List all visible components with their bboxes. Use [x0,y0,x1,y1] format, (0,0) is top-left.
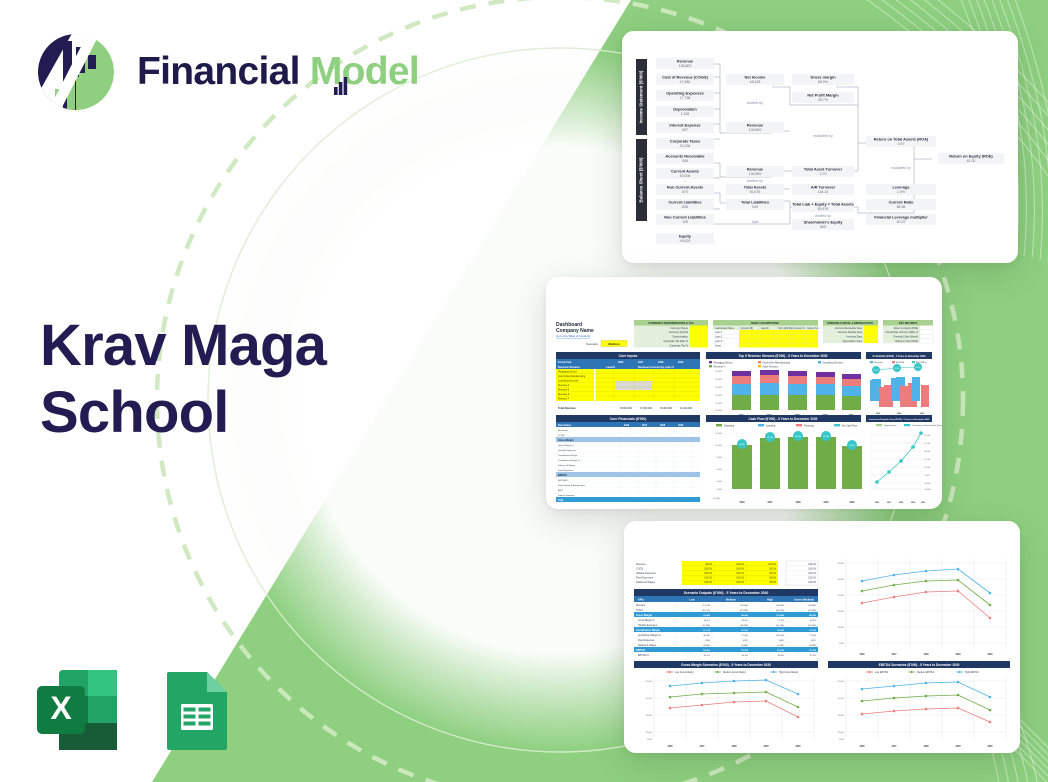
svg-text:(10,130): (10,130) [776,625,784,627]
svg-text:Asset: Asset [715,344,721,347]
svg-text:(47,880): (47,880) [740,610,748,612]
svg-text:Salaries & Wages: Salaries & Wages [638,644,657,647]
svg-text:2026: 2026 [618,361,624,364]
svg-text:4,000: 4,000 [717,481,723,483]
svg-text:KPIs: KPIs [638,597,644,601]
svg-text:25,000: 25,000 [838,595,845,597]
svg-text:Food & Bev Manufacturing: Food & Bev Manufacturing [558,375,586,378]
svg-text:Revenues: Revenues [558,430,569,432]
svg-text:Profitability ($'000) - 5 Year: Profitability ($'000) - 5 Years to Decem… [873,355,927,358]
svg-text:(2,000): (2,000) [713,498,720,500]
svg-text:57,710: 57,710 [703,630,710,632]
svg-text:Consulting Services: Consulting Services [558,380,579,383]
svg-text:57,000: 57,000 [924,443,931,445]
svg-text:Go to the Table of Contents: Go to the Table of Contents [556,334,591,338]
svg-text:Non Current Liabilities: Non Current Liabilities [664,214,706,219]
microsoft-excel-icon[interactable]: X X [33,666,121,754]
svg-text:Add: Add [751,220,759,224]
svg-text:Consulting Services: Consulting Services [823,361,844,364]
svg-text:Fixed Expenses: Fixed Expenses [558,470,574,472]
svg-text:Contribution Margin %: Contribution Margin % [558,459,580,462]
svg-text:Cash Flow ($'000) - 5 Years to: Cash Flow ($'000) - 5 Years to December … [749,417,818,421]
svg-text:65.0%: 65.0% [742,620,748,622]
svg-text:72,000: 72,000 [924,435,931,437]
svg-text:Leverage: Leverage [892,184,910,189]
svg-text:Revenue: Revenue [747,166,764,171]
svg-text:10,000: 10,000 [646,732,653,734]
svg-text:Total Revenue: Total Revenue [558,406,576,410]
svg-text:Description: Description [558,424,572,427]
svg-text:2030: 2030 [987,746,993,748]
svg-text:Scenario Outputs ($'000) - 5 Y: Scenario Outputs ($'000) - 5 Years to De… [684,591,769,595]
svg-text:+: + [684,180,686,184]
svg-text:multiplied by: multiplied by [813,134,833,138]
svg-text:divided by: divided by [747,101,763,105]
svg-text:Corporate Tax %: Corporate Tax % [669,344,688,347]
svg-text:KEY METRICS: KEY METRICS [899,321,918,325]
svg-text:20,000: 20,000 [838,698,845,700]
svg-text:Medium Gross Margin: Medium Gross Margin [723,671,746,674]
svg-text:76,700: 76,700 [741,630,748,632]
slide-canvas: Financial Model Krav Maga School X X [0,0,1048,782]
svg-text:77,190: 77,190 [741,635,748,637]
svg-text:Equity: Equity [679,233,692,238]
svg-text:97,630: 97,630 [777,650,784,652]
svg-text:39,400,000: 39,400,000 [660,407,673,410]
svg-text:(3,880): (3,880) [809,645,816,647]
svg-text:100.0%: 100.0% [808,582,816,584]
svg-text:2026: 2026 [624,425,630,427]
svg-text:High Gross Margin: High Gross Margin [779,671,799,674]
svg-text:25,000: 25,000 [646,681,653,683]
svg-text:Contribution Margin %: Contribution Margin % [638,634,661,637]
svg-text:Total: Total [558,499,564,502]
svg-text:144.24: 144.24 [818,190,829,194]
svg-text:2.70: 2.70 [820,172,827,176]
page-title-line1: Krav Maga [40,312,326,379]
svg-text:Interest Expense: Interest Expense [669,122,701,127]
svg-text:42,000: 42,000 [924,451,931,453]
svg-text:40.1%: 40.1% [704,655,710,657]
svg-text:Variable Expenses: Variable Expenses [636,572,657,575]
svg-text:Internal Rate of Return (IRR),: Internal Rate of Return (IRR), % [885,331,918,334]
svg-text:-18,000: -18,000 [924,483,932,485]
svg-text:Core Financials ($'000): Core Financials ($'000) [610,417,647,421]
file-format-icons: X X Sheets [33,666,241,754]
svg-text:40,100,000: 40,100,000 [680,407,693,410]
svg-text:88,920: 88,920 [741,615,748,617]
svg-text:(11,190): (11,190) [702,625,710,627]
svg-text:Food & Bev Manufacturing: Food & Bev Manufacturing [763,361,791,364]
svg-text:Operating Expenses: Operating Expenses [666,90,704,95]
svg-text:100.0%: 100.0% [808,569,816,571]
svg-text:Variable Expenses: Variable Expenses [638,624,658,627]
bar-chart-glyph-icon [334,63,349,83]
svg-text:2028: 2028 [795,502,801,504]
svg-text:Packaging Service: Packaging Service [714,361,734,364]
svg-text:5,000: 5,000 [647,739,653,741]
svg-text:CURRENCY DENOMINATION & TAX: CURRENCY DENOMINATION & TAX [648,321,694,325]
svg-text:45.6%: 45.6% [915,367,920,369]
svg-text:0.97: 0.97 [898,142,905,146]
svg-text:COGS: COGS [558,435,565,437]
svg-text:Amount ($): Amount ($) [741,327,753,330]
svg-text:121,130: 121,130 [702,605,711,607]
svg-text:2029: 2029 [678,361,684,364]
svg-text:2029: 2029 [955,654,961,656]
svg-text:Accounts Receivable Days: Accounts Receivable Days [835,327,863,330]
svg-text:Medium EBITDA: Medium EBITDA [917,671,935,674]
svg-text:20,000: 20,000 [838,611,845,613]
svg-text:43.8%: 43.8% [778,655,784,657]
svg-text:2026: 2026 [667,746,673,748]
svg-text:Revenue 7: Revenue 7 [558,399,570,401]
svg-text:2,000: 2,000 [717,489,723,491]
svg-text:Financing: Financing [804,425,815,427]
svg-text:105.0%: 105.0% [704,578,712,580]
svg-text:(50,270): (50,270) [702,610,710,612]
svg-text:15,000: 15,000 [646,715,653,717]
svg-text:136,800: 136,800 [679,64,692,68]
svg-text:Current Liabilities: Current Liabilities [668,199,701,204]
screenshot-card-dupont-diagram[interactable]: Income Statement ($'000) Balance Sheet (… [622,31,1018,263]
svg-text:50,006: 50,006 [680,174,691,178]
svg-text:2028: 2028 [658,361,664,364]
svg-text:Accounts Payable Days: Accounts Payable Days [838,331,863,334]
svg-text:50,576: 50,576 [818,207,829,211]
svg-text:136,800: 136,800 [749,172,762,176]
svg-text:60.22: 60.22 [897,220,906,224]
svg-text:71.3%: 71.3% [778,620,784,622]
svg-text:Corporate Taxes: Corporate Taxes [670,138,700,143]
scenario-analysis-sheet: Revenue COGS Variable Expenses Fixed Exp… [624,521,1020,753]
svg-text:58.98: 58.98 [897,205,906,209]
svg-text:Loan 1: Loan 1 [715,331,723,334]
svg-text:Total Assets: Total Assets [744,184,767,189]
svg-text:DEBT ASSUMPTIONS: DEBT ASSUMPTIONS [751,321,779,325]
svg-text:35,000: 35,000 [715,387,722,389]
svg-text:8,000: 8,000 [717,457,723,459]
svg-text:10,390: 10,390 [823,436,830,438]
svg-text:30,000: 30,000 [715,395,722,397]
excel-icon-label: X [121,666,122,667]
svg-text:120.0%: 120.0% [768,564,776,566]
svg-text:Grace Peri: Grace Peri [807,327,819,330]
svg-text:2030: 2030 [987,654,993,656]
dupont-financial-ratio-diagram: Income Statement ($'000) Balance Sheet (… [622,31,1018,263]
svg-text:Corporate Tax Rate %: Corporate Tax Rate % [663,340,688,343]
svg-text:Variable Expenses: Variable Expenses [558,449,577,452]
svg-text:42.6%: 42.6% [810,655,816,657]
svg-text:-33,000: -33,000 [924,489,932,491]
sheets-icon-label: Sheets [241,666,242,667]
svg-text:Revenue Forecast by years $: Revenue Forecast by years $ [638,365,674,369]
svg-text:58.5%: 58.5% [704,620,710,622]
svg-text:2029: 2029 [678,425,684,427]
svg-text:27,000: 27,000 [924,459,931,461]
svg-text:Depreciation: Depreciation [673,106,697,111]
svg-text:Revenue Streams: Revenue Streams [558,365,580,369]
svg-text:multiplied by: multiplied by [891,166,911,170]
svg-text:High: High [767,597,773,601]
svg-text:50,576: 50,576 [750,190,761,194]
svg-text:20,000: 20,000 [715,410,722,412]
svg-text:Current Ratio: Current Ratio [889,199,914,204]
svg-text:EBITDA %: EBITDA % [638,654,649,657]
svg-text:Revenue: Revenue [747,122,764,127]
svg-text:Salaries & Wages: Salaries & Wages [558,464,576,467]
svg-text:(3,185): (3,185) [777,645,784,647]
svg-text:Balance Sheet ($'000): Balance Sheet ($'000) [639,157,644,203]
svg-text:Threshold Cash (Month): Threshold Cash (Month) [893,336,918,339]
svg-text:10,298: 10,298 [767,437,774,439]
svg-text:2027: 2027 [767,502,773,504]
svg-text:948: 948 [682,159,688,163]
svg-text:Gross Margin Scenarios ($'000): Gross Margin Scenarios ($'000) - 5 Years… [681,663,771,667]
svg-text:80.0%: 80.0% [705,564,712,566]
svg-text:Net Income: Net Income [745,74,767,79]
svg-text:2028: 2028 [731,746,737,748]
financial-model-circle-logo [33,27,119,115]
svg-text:45,000: 45,000 [715,371,722,373]
brand-name-part2: Model [310,50,419,93]
svg-text:88,920: 88,920 [809,615,816,617]
svg-text:divided by: divided by [815,214,831,218]
svg-text:WORKING CAPITAL & DEPRECIATION: WORKING CAPITAL & DEPRECIATION [827,322,873,325]
svg-text:Fiscal Year: Fiscal Year [558,360,572,364]
svg-text:EBITDA %: EBITDA % [558,479,568,482]
brand-name: Financial Model [137,52,419,91]
svg-text:Launch: Launch [761,327,770,330]
svg-text:Revenue 4: Revenue 4 [558,385,570,387]
svg-text:570: 570 [682,190,688,194]
brand-name-part1: Financial [137,50,300,93]
svg-text:EBITDA: EBITDA [636,649,646,652]
svg-text:EBITDA: EBITDA [558,474,567,477]
svg-text:Loan 3: Loan 3 [715,340,723,343]
svg-text:Gross margin: Gross margin [810,74,836,79]
svg-text:848: 848 [682,205,688,209]
svg-text:2027: 2027 [699,746,705,748]
svg-text:EBIT: EBIT [558,490,564,492]
svg-text:(700): (700) [705,640,710,642]
svg-text:100.0%: 100.0% [736,578,744,580]
svg-text:EBITDA Scenarios ($'000) - 5 Y: EBITDA Scenarios ($'000) - 5 Years to De… [879,663,960,667]
svg-text:49,629: 49,629 [680,239,691,243]
svg-text:1.9%: 1.9% [897,190,905,194]
svg-text:Shareholder's Equity: Shareholder's Equity [804,219,844,224]
svg-text:Loan 2: Loan 2 [715,336,723,339]
svg-text:-: - [684,102,685,106]
svg-text:158,480: 158,480 [776,605,785,607]
svg-text:95.0%: 95.0% [769,582,776,584]
svg-text:(582): (582) [779,640,784,642]
svg-text:Gross Margin %: Gross Margin % [558,444,574,447]
svg-text:Currency Name: Currency Name [670,327,688,330]
svg-text:102,730: 102,730 [776,635,785,637]
svg-text:10,000: 10,000 [838,732,845,734]
svg-text:2028: 2028 [660,425,666,427]
svg-text:12,000: 12,000 [715,433,722,435]
svg-text:(47,880): (47,880) [808,610,816,612]
svg-text:95.0%: 95.0% [769,569,776,571]
svg-text:-: - [684,86,685,90]
svg-text:10,450: 10,450 [795,436,802,438]
svg-text:12,000: 12,000 [924,467,931,469]
svg-text:(4,840): (4,840) [703,645,710,647]
svg-text:Income Statement ($'000): Income Statement ($'000) [639,70,644,123]
svg-text:Contribution Margin: Contribution Margin [636,629,660,632]
svg-text:77,190: 77,190 [809,635,816,637]
svg-text:EBITDA: EBITDA [896,361,904,364]
svg-text:2030: 2030 [795,746,801,748]
svg-text:Launch: Launch [606,365,616,369]
svg-text:Non Current Assets: Non Current Assets [667,184,703,189]
svg-text:Minimum Cash (2030): Minimum Cash (2030) [895,341,918,343]
svg-text:Core Inputs: Core Inputs [619,354,638,358]
svg-text:Revenue 4: Revenue 4 [714,366,726,368]
svg-text:17,758: 17,758 [680,96,691,100]
svg-text:2029: 2029 [955,746,961,748]
svg-text:COGS: COGS [636,610,643,612]
svg-text:52,007: 52,007 [703,650,710,652]
svg-text:-3,000: -3,000 [924,475,931,477]
svg-text:Fixed Expenses: Fixed Expenses [636,577,654,580]
svg-text:Medium: Medium [608,342,620,346]
svg-text:-: - [684,118,685,122]
svg-text:Packaging Service: Packaging Service [558,371,578,374]
svg-text:Investment Payback Chart ($'00: Investment Payback Chart ($'000) - 5 Yea… [869,418,930,421]
brand-logo: Financial Model [33,27,419,115]
svg-text:Total Liabilities: Total Liabilities [741,199,769,204]
svg-text:(45,500): (45,500) [776,610,784,612]
svg-text:divided by: divided by [747,179,763,183]
svg-text:537: 537 [682,128,688,132]
svg-text:30,000: 30,000 [838,579,845,581]
google-sheets-icon[interactable]: Sheets [153,666,241,754]
svg-text:95.0%: 95.0% [769,578,776,580]
svg-text:2027: 2027 [638,361,644,364]
svg-text:2030: 2030 [849,502,855,504]
svg-text:70,860: 70,860 [703,615,710,617]
svg-text:Accounts Receivable: Accounts Receivable [665,153,705,158]
svg-text:Medium: Medium [726,597,736,601]
svg-text:Operating: Operating [724,424,735,427]
svg-text:25,000: 25,000 [838,681,845,683]
svg-text:Return on Total Assets (ROA): Return on Total Assets (ROA) [874,136,929,141]
svg-text:Low EBITDA: Low EBITDA [875,671,889,674]
svg-text:35.7%: 35.7% [818,98,828,102]
svg-text:Revenue 6: Revenue 6 [558,394,570,396]
svg-text:15,000: 15,000 [838,715,845,717]
screenshot-card-dashboard[interactable]: Dashboard Company Name Go to the Table o… [546,277,942,509]
svg-text:95.0%: 95.0% [769,573,776,575]
svg-text:-: - [684,134,685,138]
svg-text:Top 5 Revenue Streams ($'000): Top 5 Revenue Streams ($'000) - 5 Years … [739,354,828,358]
svg-text:100.0%: 100.0% [808,564,816,566]
svg-text:1,265: 1,265 [681,112,690,116]
svg-text:Cost of Revenue (COGS): Cost of Revenue (COGS) [662,74,709,79]
svg-text:37,800,000: 37,800,000 [640,407,653,410]
svg-text:2027: 2027 [891,654,897,656]
financial-dashboard: Dashboard Company Name Go to the Table o… [546,277,942,509]
svg-text:Interest Expense: Interest Expense [558,494,575,497]
svg-text:20,926: 20,926 [680,144,691,148]
svg-text:Loan/Asset Name: Loan/Asset Name [715,327,735,330]
svg-text:35,000: 35,000 [838,563,845,565]
svg-text:Term (Months): Term (Months) [778,327,794,330]
svg-text:2026: 2026 [859,746,865,748]
svg-text:Gross Margin: Gross Margin [636,614,653,617]
svg-text:40,000: 40,000 [715,379,722,381]
svg-text:2029: 2029 [763,746,769,748]
svg-text:949: 949 [752,205,758,209]
svg-text:100.0%: 100.0% [736,573,744,575]
svg-text:136,800: 136,800 [749,128,762,132]
svg-text:2028: 2028 [923,654,929,656]
svg-text:Revenue: Revenue [636,563,646,566]
svg-text:47,880: 47,880 [680,80,691,84]
svg-text:Salaries & Wages: Salaries & Wages [636,581,656,584]
svg-text:8,046: 8,046 [739,444,745,446]
svg-text:869: 869 [820,225,826,229]
svg-text:Revenue 5: Revenue 5 [558,390,570,392]
svg-text:25,000: 25,000 [715,403,722,405]
svg-text:Inventory Days: Inventory Days [847,336,863,339]
svg-text:48,428: 48,428 [750,80,761,84]
svg-text:136,800: 136,800 [808,605,817,607]
svg-text:2029: 2029 [823,502,829,504]
svg-text:61.03: 61.03 [967,159,976,163]
svg-text:Depreciation Years: Depreciation Years [843,340,863,343]
svg-text:5,000: 5,000 [839,739,845,741]
svg-text:42.6%: 42.6% [742,655,748,657]
svg-text:112,980: 112,980 [776,615,785,617]
svg-text:Return on Equity (ROE): Return on Equity (ROE) [894,327,918,330]
svg-text:Contribution Margin: Contribution Margin [558,454,578,457]
svg-text:65.0%: 65.0% [810,620,816,622]
svg-text:Gross Margin: Gross Margin [558,439,574,442]
svg-text:100.0%: 100.0% [736,582,744,584]
svg-text:(637): (637) [811,640,816,642]
svg-text:100.0%: 100.0% [808,578,816,580]
svg-text:2027: 2027 [642,425,648,427]
svg-text:Total Liab + Equity = Total As: Total Liab + Equity = Total Assets [792,201,854,206]
svg-text:Payback year: Payback year [884,424,897,427]
svg-text:X: X [50,690,72,726]
svg-text:Investing: Investing [766,424,776,427]
svg-text:75,708: 75,708 [741,650,748,652]
svg-text:Low Gross Margin: Low Gross Margin [675,671,694,674]
svg-text:Currency Symbol: Currency Symbol [669,331,689,334]
svg-text:High EBITDA: High EBITDA [965,671,979,674]
svg-text:Active (Medium): Active (Medium) [794,597,814,601]
svg-text:6,000: 6,000 [717,469,723,471]
page-title-line2: School [40,379,326,446]
screenshot-card-scenario-analysis[interactable]: Revenue COGS Variable Expenses Fixed Exp… [624,521,1020,753]
svg-text:-: - [684,70,685,74]
svg-text:65.0%: 65.0% [818,80,828,84]
svg-text:75,708: 75,708 [809,650,816,652]
svg-text:Net Cash Flow: Net Cash Flow [842,424,857,427]
svg-text:98,430: 98,430 [777,629,784,632]
svg-text:Revenue: Revenue [677,58,694,63]
svg-text:Financial Leverage multiplier: Financial Leverage multiplier [874,214,928,219]
svg-text:2026: 2026 [739,502,745,504]
svg-text:2027: 2027 [891,746,897,748]
page-title: Krav Maga School [40,312,326,447]
svg-text:36,600,000: 36,600,000 [620,407,633,410]
